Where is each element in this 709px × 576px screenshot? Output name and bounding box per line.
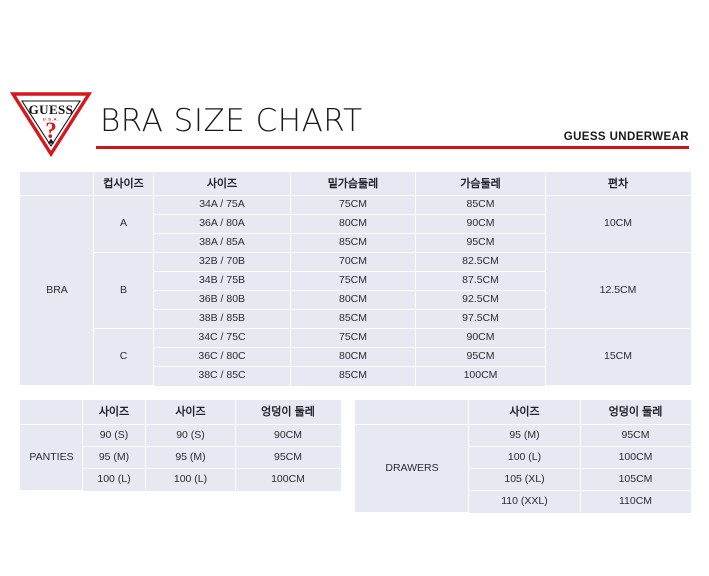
bra-underbust-cell: 85CM (291, 367, 416, 386)
table-header-row: 컵사이즈 사이즈 밑가슴둘레 가슴둘레 편차 (21, 173, 691, 196)
drawers-hip-cell: 100CM (581, 447, 691, 469)
page-title: BRA SIZE CHART (100, 103, 363, 139)
bra-deviation-cell-c: 15CM (546, 329, 691, 386)
bra-size-cell: 34A / 75A (154, 196, 291, 215)
panties-category-label: PANTIES (21, 425, 83, 491)
bra-bust-cell: 87.5CM (416, 272, 546, 291)
bra-bust-cell: 85CM (416, 196, 546, 215)
panties-hip-cell: 95CM (236, 447, 341, 469)
bra-size-table: 컵사이즈 사이즈 밑가슴둘레 가슴둘레 편차 BRA A 34A / 75A 7… (20, 172, 691, 386)
panties-hip-cell: 90CM (236, 425, 341, 447)
bra-size-cell: 34C / 75C (154, 329, 291, 348)
bra-bust-cell: 95CM (416, 348, 546, 367)
bra-header-blank (21, 173, 94, 196)
drawers-category-label: DRAWERS (356, 425, 469, 513)
panties-header-size-a: 사이즈 (83, 401, 146, 425)
bra-header-size: 사이즈 (154, 173, 291, 196)
bra-underbust-cell: 75CM (291, 272, 416, 291)
bra-bust-cell: 97.5CM (416, 310, 546, 329)
drawers-size-cell: 110 (XXL) (469, 491, 581, 513)
bra-header-underbust: 밑가슴둘레 (291, 173, 416, 196)
panties-size-b-cell: 100 (L) (146, 469, 236, 491)
bra-underbust-cell: 80CM (291, 291, 416, 310)
title-underline-rule (96, 146, 689, 149)
panties-size-table: 사이즈 사이즈 엉덩이 둘레 PANTIES 90 (S) 90 (S) 90C… (20, 400, 341, 491)
bra-underbust-cell: 80CM (291, 215, 416, 234)
panties-header-hip: 엉덩이 둘레 (236, 401, 341, 425)
bra-size-cell: 36B / 80B (154, 291, 291, 310)
table-header-row: 사이즈 엉덩이 둘레 (356, 401, 691, 425)
bra-bust-cell: 92.5CM (416, 291, 546, 310)
bra-underbust-cell: 85CM (291, 234, 416, 253)
bra-underbust-cell: 75CM (291, 329, 416, 348)
drawers-hip-cell: 105CM (581, 469, 691, 491)
drawers-hip-cell: 95CM (581, 425, 691, 447)
drawers-size-cell: 100 (L) (469, 447, 581, 469)
bra-size-cell: 38C / 85C (154, 367, 291, 386)
drawers-size-table: 사이즈 엉덩이 둘레 DRAWERS 95 (M) 95CM 100 (L) 1… (355, 400, 691, 513)
table-row: C 34C / 75C 75CM 90CM 15CM (21, 329, 691, 348)
bra-header-cup: 컵사이즈 (94, 173, 154, 196)
bra-size-cell: 38A / 85A (154, 234, 291, 253)
panties-size-b-cell: 95 (M) (146, 447, 236, 469)
drawers-header-blank (356, 401, 469, 425)
bra-deviation-cell-b: 12.5CM (546, 253, 691, 329)
bra-deviation-cell-a: 10CM (546, 196, 691, 253)
panties-header-size-b: 사이즈 (146, 401, 236, 425)
bra-size-cell: 36A / 80A (154, 215, 291, 234)
cup-group-label-c: C (94, 329, 154, 386)
bra-bust-cell: 90CM (416, 215, 546, 234)
table-row: PANTIES 90 (S) 90 (S) 90CM (21, 425, 341, 447)
panties-size-b-cell: 90 (S) (146, 425, 236, 447)
panties-header-blank (21, 401, 83, 425)
bra-header-deviation: 편차 (546, 173, 691, 196)
bra-bust-cell: 95CM (416, 234, 546, 253)
cup-group-label-a: A (94, 196, 154, 253)
table-row: B 32B / 70B 70CM 82.5CM 12.5CM (21, 253, 691, 272)
drawers-header-size: 사이즈 (469, 401, 581, 425)
bra-bust-cell: 82.5CM (416, 253, 546, 272)
bra-size-cell: 32B / 70B (154, 253, 291, 272)
panties-size-a-cell: 90 (S) (83, 425, 146, 447)
bra-underbust-cell: 80CM (291, 348, 416, 367)
table-header-row: 사이즈 사이즈 엉덩이 둘레 (21, 401, 341, 425)
panties-size-a-cell: 100 (L) (83, 469, 146, 491)
drawers-header-hip: 엉덩이 둘레 (581, 401, 691, 425)
bra-category-label: BRA (21, 196, 94, 386)
bra-bust-cell: 100CM (416, 367, 546, 386)
panties-hip-cell: 100CM (236, 469, 341, 491)
bra-underbust-cell: 70CM (291, 253, 416, 272)
table-row: BRA A 34A / 75A 75CM 85CM 10CM (21, 196, 691, 215)
svg-text:GUESS: GUESS (29, 102, 74, 117)
bra-size-cell: 34B / 75B (154, 272, 291, 291)
bra-size-cell: 38B / 85B (154, 310, 291, 329)
bra-underbust-cell: 85CM (291, 310, 416, 329)
panties-size-a-cell: 95 (M) (83, 447, 146, 469)
table-row: DRAWERS 95 (M) 95CM (356, 425, 691, 447)
bra-header-bust: 가슴둘레 (416, 173, 546, 196)
bra-size-cell: 36C / 80C (154, 348, 291, 367)
cup-group-label-b: B (94, 253, 154, 329)
drawers-size-cell: 95 (M) (469, 425, 581, 447)
bra-underbust-cell: 75CM (291, 196, 416, 215)
drawers-size-cell: 105 (XL) (469, 469, 581, 491)
brand-label: GUESS UNDERWEAR (564, 131, 689, 143)
guess-triangle-logo: GUESS U.S.A. ? (8, 88, 94, 158)
bra-bust-cell: 90CM (416, 329, 546, 348)
drawers-hip-cell: 110CM (581, 491, 691, 513)
